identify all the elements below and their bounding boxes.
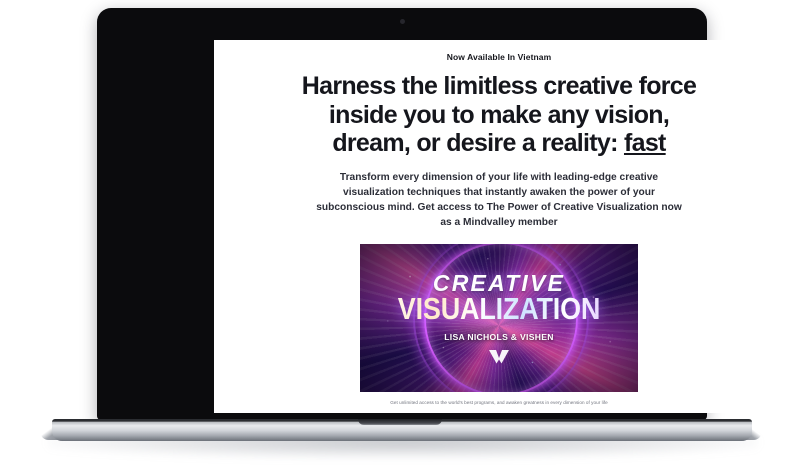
headline-line-1: Harness the limitless creative force [302,72,696,100]
browser-screen: Now Available In Vietnam Harness the lim… [214,40,784,413]
artwork-text-block: CREATIVE VISUALIZATION LISA NICHOLS & VI… [360,244,638,392]
headline-line-2: inside you to make any vision, [329,101,669,129]
laptop-mockup: Now Available In Vietnam Harness the lim… [0,0,800,475]
page-subheadline: Transform every dimension of your life w… [313,170,685,230]
laptop-screen-bezel: Now Available In Vietnam Harness the lim… [97,8,707,420]
headline-line-3-prefix: dream, or desire a reality: [332,129,624,157]
page-headline: Harness the limitless creative force ins… [289,72,709,158]
artwork-title-line-2: VISUALIZATION [398,294,600,324]
laptop-lid-notch [358,419,442,425]
headline-emphasis-fast: fast [624,129,666,157]
mindvalley-logo-icon [488,350,510,364]
artwork-caption: Get unlimited access to the world's best… [334,400,664,405]
landing-page-content: Now Available In Vietnam Harness the lim… [214,40,784,413]
webcam-icon [400,19,405,24]
course-artwork-video[interactable]: CREATIVE VISUALIZATION LISA NICHOLS & VI… [360,244,638,392]
artwork-presenters: LISA NICHOLS & VISHEN [444,332,554,342]
availability-badge: Now Available In Vietnam [214,52,784,62]
